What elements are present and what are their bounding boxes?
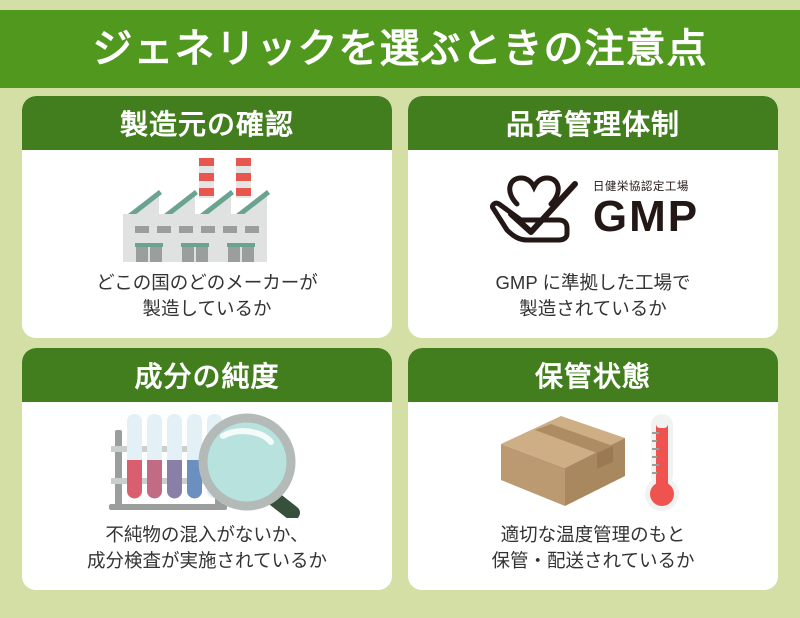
page-title: ジェネリックを選ぶときの注意点	[93, 29, 708, 69]
card-grid: 製造元の確認	[22, 96, 778, 590]
test-tubes-magnifier-icon	[22, 406, 392, 518]
card-body-quality-control: 日健栄協認定工場 GMP GMP に準拠した工場で 製造されているか	[408, 150, 778, 338]
page-banner: ジェネリックを選ぶときの注意点	[0, 10, 800, 88]
factory-icon	[22, 154, 392, 266]
card-caption-storage: 適切な温度管理のもと 保管・配送されているか	[484, 518, 703, 575]
card-header-purity: 成分の純度	[22, 348, 392, 402]
card-body-storage: 適切な温度管理のもと 保管・配送されているか	[408, 402, 778, 590]
card-body-purity: 不純物の混入がないか、 成分検査が実施されているか	[22, 402, 392, 590]
card-purity: 成分の純度	[22, 348, 392, 590]
gmp-certification-logo: 日健栄協認定工場 GMP	[408, 154, 778, 266]
box-thermometer-icon	[408, 406, 778, 518]
caption-line: 適切な温度管理のもと	[492, 522, 695, 548]
card-header-storage: 保管状態	[408, 348, 778, 402]
card-storage: 保管状態	[408, 348, 778, 590]
caption-line: 不純物の混入がないか、	[87, 522, 327, 548]
gmp-big-text: GMP	[593, 196, 699, 238]
card-header-quality-control: 品質管理体制	[408, 96, 778, 150]
card-body-manufacturer: どこの国のどのメーカーが 製造しているか	[22, 150, 392, 338]
card-manufacturer: 製造元の確認	[22, 96, 392, 338]
hand-heart-check-icon	[487, 170, 583, 250]
card-quality-control: 品質管理体制 日健栄協認定工場	[408, 96, 778, 338]
caption-line: 保管・配送されているか	[492, 548, 695, 574]
card-caption-manufacturer: どこの国のどのメーカーが 製造しているか	[88, 266, 325, 323]
caption-line: 成分検査が実施されているか	[87, 548, 327, 574]
caption-line: GMP に準拠した工場で	[496, 270, 691, 296]
caption-line: どこの国のどのメーカーが	[96, 270, 317, 296]
caption-line: 製造しているか	[96, 296, 317, 322]
infographic-page: ジェネリックを選ぶときの注意点 製造元の確認	[0, 0, 800, 618]
card-caption-quality-control: GMP に準拠した工場で 製造されているか	[488, 266, 699, 323]
card-caption-purity: 不純物の混入がないか、 成分検査が実施されているか	[79, 518, 335, 575]
card-header-manufacturer: 製造元の確認	[22, 96, 392, 150]
caption-line: 製造されているか	[496, 296, 691, 322]
